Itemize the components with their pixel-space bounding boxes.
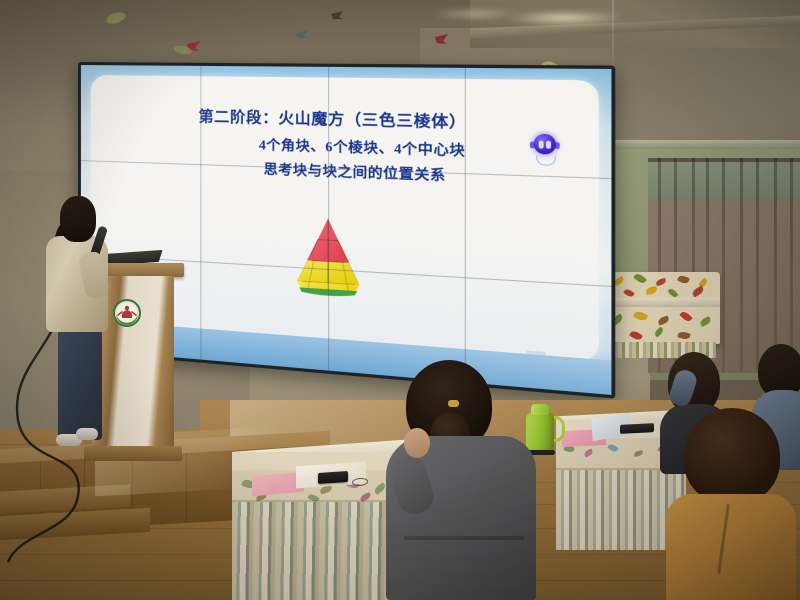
presenter-speaker xyxy=(38,196,126,464)
hair-clip xyxy=(448,400,459,407)
audience-hand xyxy=(404,428,430,458)
teal-bird-decal xyxy=(295,28,311,41)
mobile-phone[interactable] xyxy=(318,471,348,484)
leaf-decal-left-2 xyxy=(173,45,193,56)
red-bird-decal-2 xyxy=(434,33,450,47)
audience-member-tan-coat xyxy=(666,408,796,600)
presenter-shoe-right xyxy=(76,428,98,440)
dark-notebook-right xyxy=(620,423,654,434)
robot-assistant-icon[interactable] xyxy=(531,134,558,160)
leaf-decal-left xyxy=(105,12,127,24)
dark-bird-decal xyxy=(330,10,345,22)
classroom-presentation-photo: 第二阶段：火山魔方（三色三棱体） 4个角块、6个棱块、4个中心块 思考块与块之间… xyxy=(0,0,800,600)
presenter-hair xyxy=(60,196,96,242)
presenter-trousers xyxy=(58,328,102,440)
audience-arm-raised xyxy=(672,370,696,410)
audience-member-gray-coat xyxy=(386,360,536,600)
